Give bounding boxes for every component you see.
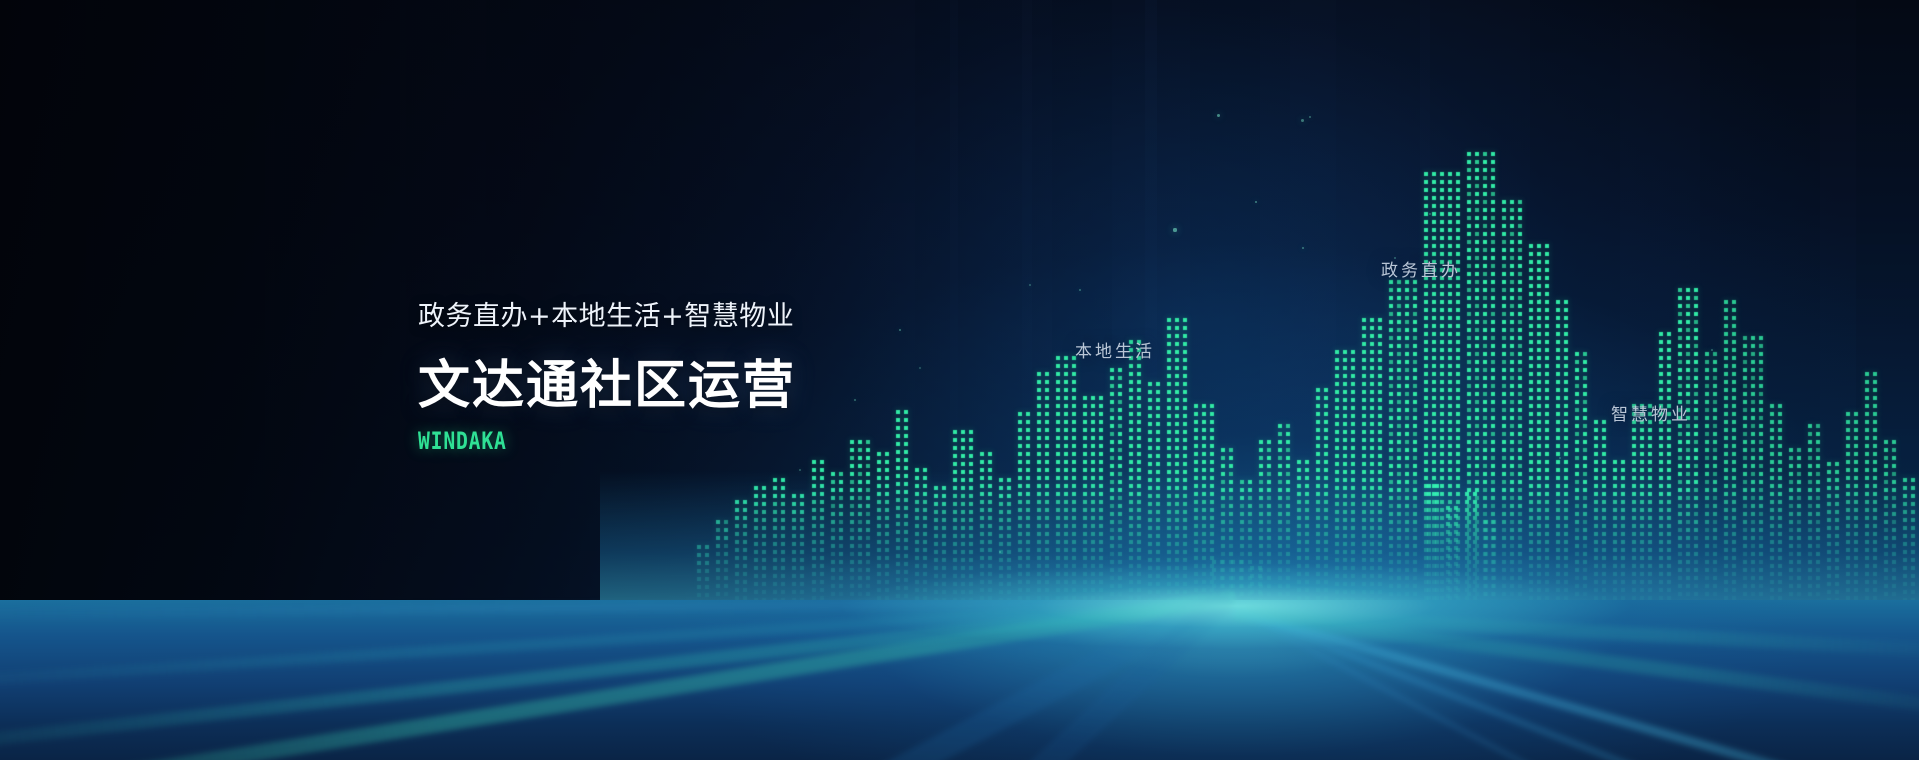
ground-perspective-ray bbox=[0, 593, 1235, 760]
brand-wordmark: WINDAKA bbox=[418, 427, 728, 455]
ground-perspective-ray bbox=[1233, 606, 1919, 724]
ground-perspective-ray bbox=[0, 596, 1235, 620]
banner-title: 文达通社区运营 bbox=[418, 343, 796, 418]
hero-banner: 本地生活政务直办智慧物业 政务直办+本地生活+智慧物业 文达通社区运营 WIND… bbox=[0, 0, 1919, 760]
ground-perspective-ray bbox=[0, 590, 1235, 760]
perspective-ground bbox=[0, 600, 1919, 760]
ground-perspective-ray bbox=[705, 587, 1235, 760]
ground-perspective-ray bbox=[1232, 606, 1906, 760]
ground-perspective-ray bbox=[1233, 606, 1919, 760]
city-label-1: 本地生活 bbox=[1075, 337, 1155, 362]
city-label-3: 智慧物业 bbox=[1611, 400, 1691, 425]
ground-perspective-ray bbox=[1232, 606, 1919, 760]
ground-perspective-ray bbox=[0, 595, 1235, 697]
ground-perspective-ray bbox=[428, 583, 1235, 760]
banner-subtitle: 政务直办+本地生活+智慧物业 bbox=[418, 294, 796, 333]
city-label-2: 政务直办 bbox=[1381, 256, 1461, 281]
ground-perspective-ray bbox=[1234, 606, 1919, 660]
headline-block: 政务直办+本地生活+智慧物业 文达通社区运营 WINDAKA bbox=[418, 294, 796, 455]
